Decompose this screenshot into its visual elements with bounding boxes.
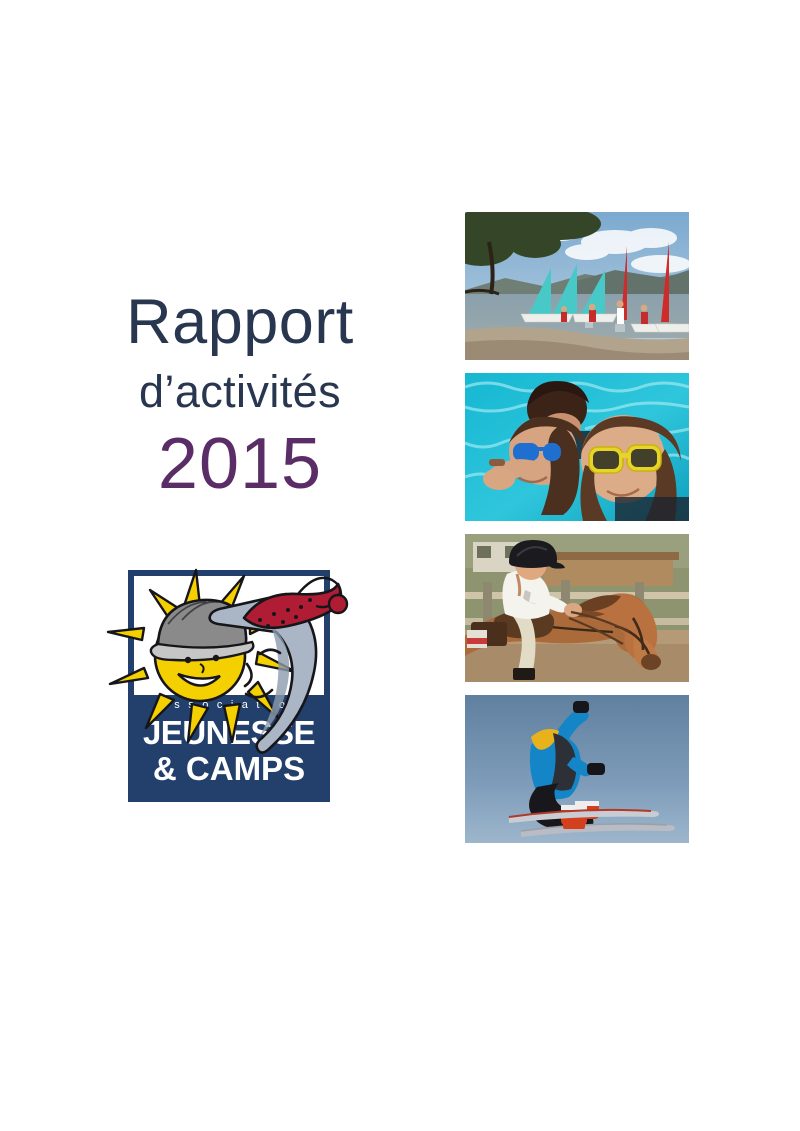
cover-title-block: Rapport d’activités 2015	[60, 290, 420, 502]
cover-page: Rapport d’activités 2015 Association JEU…	[0, 0, 800, 1131]
photo-horse-riding	[465, 534, 689, 682]
page-subtitle: d’activités	[60, 364, 420, 420]
logo-box: Association JEUNESSE & CAMPS	[128, 570, 330, 802]
logo-name-line2: & CAMPS	[128, 752, 330, 785]
cover-photo-strip	[465, 212, 689, 856]
logo-nameplate: Association JEUNESSE & CAMPS	[128, 695, 330, 802]
report-year: 2015	[60, 427, 420, 503]
photo-skiing	[465, 695, 689, 843]
page-title: Rapport	[60, 290, 420, 354]
photo-sailing	[465, 212, 689, 360]
logo-name-line1: JEUNESSE	[128, 716, 330, 749]
photo-swimming-pool	[465, 373, 689, 521]
association-logo: Association JEUNESSE & CAMPS	[100, 528, 350, 810]
logo-association-word: Association	[128, 699, 330, 711]
logo-box-frame	[128, 570, 330, 695]
